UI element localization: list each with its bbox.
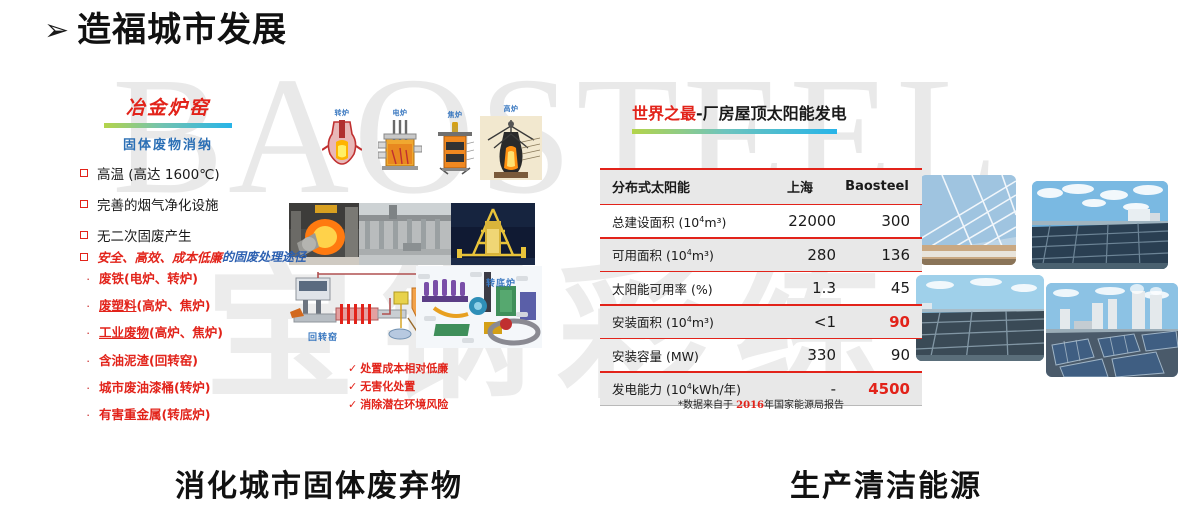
- table-row: 太阳能可用率 (%)1.345: [600, 272, 922, 304]
- photo-rooftop-solar-array-2: [916, 275, 1044, 361]
- table-footnote: *数据来自于 2016年国家能源局报告: [600, 396, 922, 411]
- route-highlight-line: 安全、高效、成本低廉 的固废处理途径: [80, 247, 306, 266]
- cell-baosteel: 90: [844, 346, 922, 364]
- photo-solar-farm-with-plant: [1046, 283, 1178, 377]
- cell-shanghai: 22000: [764, 212, 844, 230]
- waste-list-item: ·废塑料 (高炉、焦炉): [86, 295, 223, 314]
- check-label: 消除潜在环境风险: [360, 396, 448, 412]
- table-row: 总建设面积 (104m³)22000300: [600, 205, 922, 237]
- furnace-illustration: [378, 120, 422, 175]
- furnace-label: 焦炉: [436, 110, 474, 120]
- dot-bullet-icon: ·: [86, 325, 99, 340]
- cell-baosteel: 4500: [844, 380, 922, 398]
- superscript: 4: [687, 315, 692, 324]
- cell-baosteel: 300: [844, 212, 922, 230]
- feature-label: 无二次固废产生: [97, 225, 192, 245]
- cell-shanghai: 330: [764, 346, 844, 364]
- left-gradient-divider: [104, 123, 232, 128]
- row-metric-label: 可用面积 (104m³): [600, 245, 764, 264]
- flow-label-rotary-kiln: 回转窑: [308, 330, 338, 343]
- waste-process: (转炉): [174, 377, 210, 396]
- cell-shanghai: 1.3: [764, 279, 844, 297]
- check-item: ✓消除潜在环境风险: [348, 396, 448, 412]
- square-bullet-icon: [80, 231, 88, 239]
- waste-name: 工业废物: [99, 322, 149, 341]
- column-header-baosteel: Baosteel: [844, 179, 922, 194]
- square-bullet-icon: [80, 200, 88, 208]
- right-heading-red: 世界之最: [632, 100, 696, 124]
- dot-bullet-icon: ·: [86, 298, 99, 313]
- process-flow-diagrams: 回转窑 转底炉: [290, 272, 540, 354]
- waste-list-item: ·城市废油漆桶 (转炉): [86, 377, 223, 396]
- footnote-prefix: *数据来自于: [678, 400, 736, 411]
- check-icon: ✓: [348, 398, 357, 411]
- furnace-diagram-strip: 转炉电炉焦炉高炉: [322, 108, 542, 193]
- waste-name: 废铁: [99, 268, 124, 287]
- waste-name: 废塑料: [99, 295, 137, 314]
- solar-data-table: 分布式太阳能 上海 Baosteel 总建设面积 (104m³)22000300…: [600, 168, 922, 406]
- feature-label: 完善的烟气净化设施: [97, 194, 219, 214]
- furnace-illustration: [480, 116, 542, 185]
- photo-plant-interior: [359, 203, 451, 265]
- table-body: 总建设面积 (104m³)22000300可用面积 (104m³)280136太…: [600, 204, 922, 407]
- waste-process: (高炉、焦炉): [137, 295, 211, 314]
- row-metric-label: 太阳能可用率 (%): [600, 279, 764, 298]
- dot-bullet-icon: ·: [86, 353, 99, 368]
- right-heading-dark: -厂房屋顶太阳能发电: [696, 100, 847, 124]
- check-item: ✓无害化处置: [348, 378, 448, 394]
- furnace-label: 高炉: [480, 104, 542, 114]
- waste-process: (电炉、转炉): [124, 268, 198, 287]
- cell-shanghai: -: [764, 380, 844, 398]
- row-metric-label: 总建设面积 (104m³): [600, 212, 764, 231]
- table-header-row: 分布式太阳能 上海 Baosteel: [600, 170, 922, 204]
- dot-bullet-icon: ·: [86, 271, 99, 286]
- caption-right: 生产清洁能源: [790, 461, 982, 505]
- furnace-cell: 电炉: [378, 108, 422, 175]
- table-row: 可用面积 (104m³)280136: [600, 239, 922, 271]
- table-row: 安装容量 (MW)33090: [600, 339, 922, 371]
- benefit-check-list: ✓处置成本相对低廉✓无害化处置✓消除潜在环境风险: [348, 360, 448, 414]
- feature-list: 高温 (高达 1600℃)完善的烟气净化设施无二次固废产生: [80, 163, 220, 256]
- furnace-label: 电炉: [378, 108, 422, 118]
- check-item: ✓处置成本相对低廉: [348, 360, 448, 376]
- slide-canvas: BAOSTEEL 宝钢彩练 ➢ 造福城市发展 冶金炉窑 固体废物消纳 高温 (高…: [0, 0, 1200, 517]
- right-panel-header: 世界之最 -厂房屋顶太阳能发电: [632, 100, 847, 134]
- industrial-photo-strip: [289, 203, 535, 265]
- cell-baosteel: 45: [844, 279, 922, 297]
- check-icon: ✓: [348, 362, 357, 375]
- furnace-illustration: [322, 120, 362, 171]
- cell-shanghai: 280: [764, 246, 844, 264]
- waste-list-item: ·废铁 (电炉、转炉): [86, 268, 223, 287]
- left-panel-header: 冶金炉窑 固体废物消纳: [104, 93, 232, 153]
- route-emphasis-text: 安全、高效、成本低廉: [97, 247, 222, 266]
- slide-title-text: 造福城市发展: [77, 12, 287, 49]
- superscript: 4: [687, 382, 692, 391]
- furnace-illustration: [436, 122, 474, 181]
- table-row: 安装面积 (104m³)<190: [600, 306, 922, 338]
- waste-name: 城市废油漆桶: [99, 377, 174, 396]
- furnace-cell: 高炉: [480, 104, 542, 185]
- check-icon: ✓: [348, 380, 357, 393]
- furnace-label: 转炉: [322, 108, 362, 118]
- column-header-shanghai: 上海: [764, 177, 844, 196]
- rotary-hearth-schematic: [416, 266, 542, 348]
- caption-left: 消化城市固体废弃物: [175, 461, 463, 505]
- cell-baosteel: 136: [844, 246, 922, 264]
- check-label: 无害化处置: [360, 378, 415, 394]
- waste-type-list: ·废铁 (电炉、转炉)·废塑料 (高炉、焦炉)·工业废物 (高炉、焦炉)·含油泥…: [86, 268, 223, 431]
- square-bullet-icon: [80, 169, 88, 177]
- furnace-cell: 转炉: [322, 108, 362, 171]
- row-metric-label: 安装面积 (104m³): [600, 312, 764, 331]
- waste-list-item: ·含油泥渣 (回转窑): [86, 350, 223, 369]
- left-panel-heading: 冶金炉窑: [104, 93, 232, 120]
- cell-shanghai: <1: [764, 313, 844, 331]
- waste-name: 有害重金属: [99, 404, 162, 423]
- right-gradient-divider: [632, 129, 837, 134]
- solar-photo-grid: [920, 175, 1192, 385]
- footnote-suffix: 年国家能源局报告: [764, 400, 844, 411]
- waste-process: (高炉、焦炉): [149, 322, 223, 341]
- left-panel-subheading: 固体废物消纳: [104, 134, 232, 153]
- check-label: 处置成本相对低廉: [360, 360, 448, 376]
- waste-list-item: ·有害重金属 (转底炉): [86, 404, 223, 423]
- cell-baosteel: 90: [844, 313, 922, 331]
- photo-solar-panel-closeup: [920, 175, 1016, 265]
- column-header-metric: 分布式太阳能: [600, 177, 764, 196]
- dot-bullet-icon: ·: [86, 407, 99, 422]
- superscript: 4: [699, 214, 704, 223]
- slide-title: ➢ 造福城市发展: [44, 12, 287, 49]
- waste-process: (转底炉): [162, 404, 211, 423]
- feature-item: 无二次固废产生: [80, 225, 220, 245]
- feature-item: 完善的烟气净化设施: [80, 194, 220, 214]
- arrow-bullet-icon: ➢: [44, 16, 69, 46]
- dot-bullet-icon: ·: [86, 380, 99, 395]
- waste-list-item: ·工业废物 (高炉、焦炉): [86, 322, 223, 341]
- waste-name: 含油泥渣: [99, 350, 149, 369]
- row-metric-label: 安装容量 (MW): [600, 346, 764, 365]
- route-rest-text: 的固废处理途径: [222, 248, 306, 265]
- feature-label: 高温 (高达 1600℃): [97, 163, 220, 183]
- waste-process: (回转窑): [149, 350, 198, 369]
- square-bullet-icon: [80, 253, 88, 261]
- furnace-cell: 焦炉: [436, 110, 474, 181]
- flow-label-rotary-hearth: 转底炉: [486, 276, 516, 289]
- photo-blast-furnace-night: [451, 203, 535, 265]
- photo-rooftop-solar-array-1: [1032, 181, 1168, 269]
- feature-item: 高温 (高达 1600℃): [80, 163, 220, 183]
- superscript: 4: [687, 248, 692, 257]
- footnote-year: 2016: [736, 400, 764, 411]
